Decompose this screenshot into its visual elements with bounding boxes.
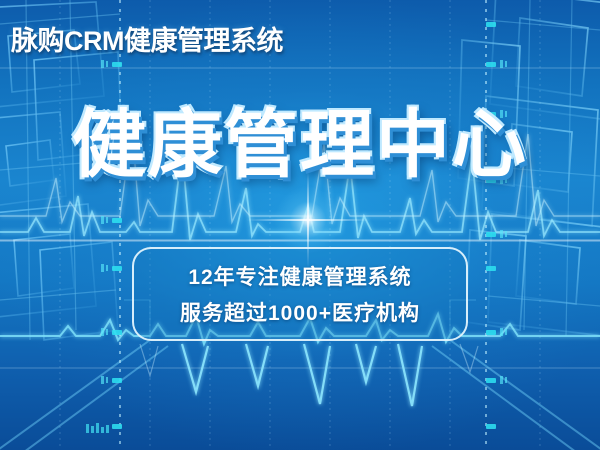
left-ruler bbox=[86, 0, 122, 450]
dotted-grid-lines bbox=[0, 0, 600, 450]
abstract-rectangle-outlines bbox=[0, 0, 600, 450]
ecg-downward-spikes bbox=[182, 344, 422, 406]
starburst-core bbox=[274, 186, 342, 254]
ecg-waveform-layer bbox=[0, 0, 600, 450]
subtitle-line-2: 服务超过1000+医疗机构 bbox=[180, 297, 420, 327]
right-ruler bbox=[486, 0, 507, 450]
subtitle-callout-box: 12年专注健康管理系统 服务超过1000+医疗机构 bbox=[132, 247, 468, 341]
health-management-banner: 脉购CRM健康管理系统 健康管理中心 12年专注健康管理系统 服务超过1000+… bbox=[0, 0, 600, 450]
subtitle-line-1: 12年专注健康管理系统 bbox=[188, 261, 411, 291]
side-ruler-decorations bbox=[0, 0, 600, 450]
starburst-ray-horizontal bbox=[246, 219, 370, 221]
page-title: 健康管理中心 bbox=[0, 108, 600, 182]
brand-header-title: 脉购CRM健康管理系统 bbox=[11, 19, 283, 58]
